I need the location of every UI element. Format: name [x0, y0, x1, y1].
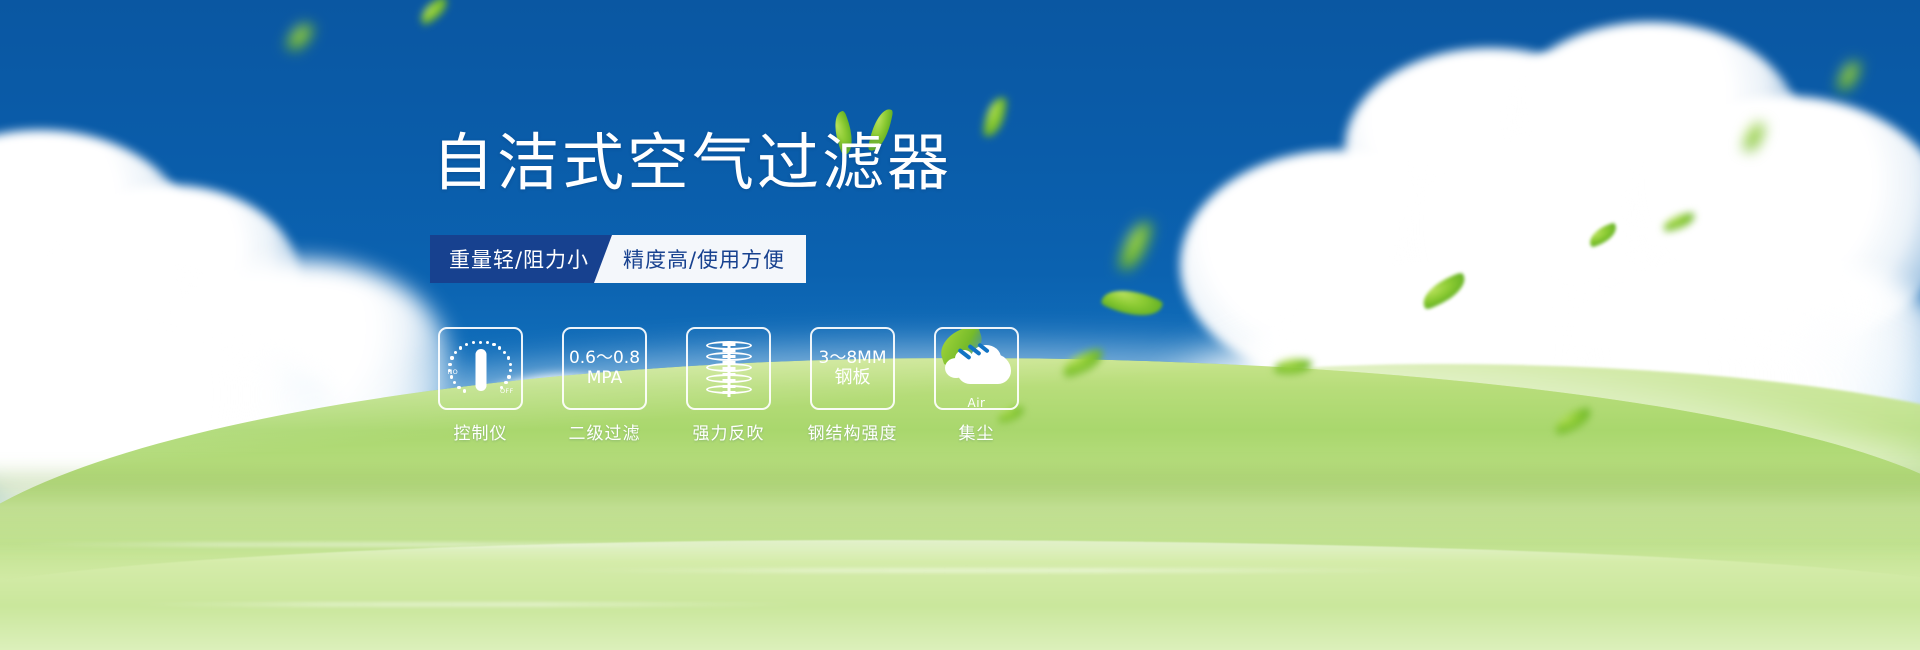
steel-plate-text-icon: 3～8MM 钢板 — [819, 349, 887, 388]
tab-label: 重量轻/阻力小 — [449, 244, 589, 274]
feature-icon-subtext: 钢板 — [819, 368, 887, 388]
feature-label: 控制仪 — [454, 419, 508, 444]
feature-icon-subtext: MPA — [569, 369, 640, 388]
feature-item-strong-blowback[interactable]: 强力反吹 — [682, 327, 775, 444]
feature-label: 二级过滤 — [569, 419, 641, 444]
pressure-text-icon: 0.6～0.8 MPA — [569, 349, 640, 387]
feature-item-dust-collection[interactable]: Air 集尘 — [930, 327, 1023, 444]
feature-icon-box — [686, 327, 771, 410]
gauge-switch-icon: NO OFF — [448, 338, 514, 400]
feature-label: 集尘 — [959, 419, 995, 444]
air-cloud-icon: Air — [943, 340, 1011, 398]
feature-icon-text: 3～8MM — [819, 349, 887, 368]
feature-icon-box: 3～8MM 钢板 — [810, 327, 895, 410]
gauge-off-label: OFF — [500, 387, 514, 395]
feature-icon-text: 0.6～0.8 — [569, 349, 640, 368]
feature-label: 钢结构强度 — [808, 419, 898, 444]
feature-icon-box: 0.6～0.8 MPA — [562, 327, 647, 410]
product-hero-banner: 自洁式空气过滤器 重量轻/阻力小 精度高/使用方便 — [0, 0, 1920, 650]
gauge-lever — [475, 349, 486, 391]
tab-lightweight-low-resistance[interactable]: 重量轻/阻力小 — [430, 235, 612, 283]
feature-label: 强力反吹 — [693, 419, 765, 444]
hero-content: 自洁式空气过滤器 重量轻/阻力小 精度高/使用方便 — [0, 0, 1920, 650]
feature-icon-box: NO OFF — [438, 327, 523, 410]
tab-high-precision-easy-use[interactable]: 精度高/使用方便 — [594, 235, 806, 283]
feature-item-steel-strength[interactable]: 3～8MM 钢板 钢结构强度 — [806, 327, 899, 444]
feature-list: NO OFF 控制仪 0.6～0.8 MPA 二级过滤 — [434, 327, 1023, 444]
coil-blowback-icon — [701, 339, 757, 399]
feature-item-controller[interactable]: NO OFF 控制仪 — [434, 327, 527, 444]
tab-label: 精度高/使用方便 — [623, 244, 785, 274]
gauge-on-label: NO — [448, 368, 459, 376]
page-title: 自洁式空气过滤器 — [432, 132, 952, 194]
feature-item-two-stage-filter[interactable]: 0.6～0.8 MPA 二级过滤 — [558, 327, 651, 444]
air-label: Air — [943, 396, 1011, 410]
feature-tabs: 重量轻/阻力小 精度高/使用方便 — [430, 235, 806, 283]
feature-icon-box: Air — [934, 327, 1019, 410]
